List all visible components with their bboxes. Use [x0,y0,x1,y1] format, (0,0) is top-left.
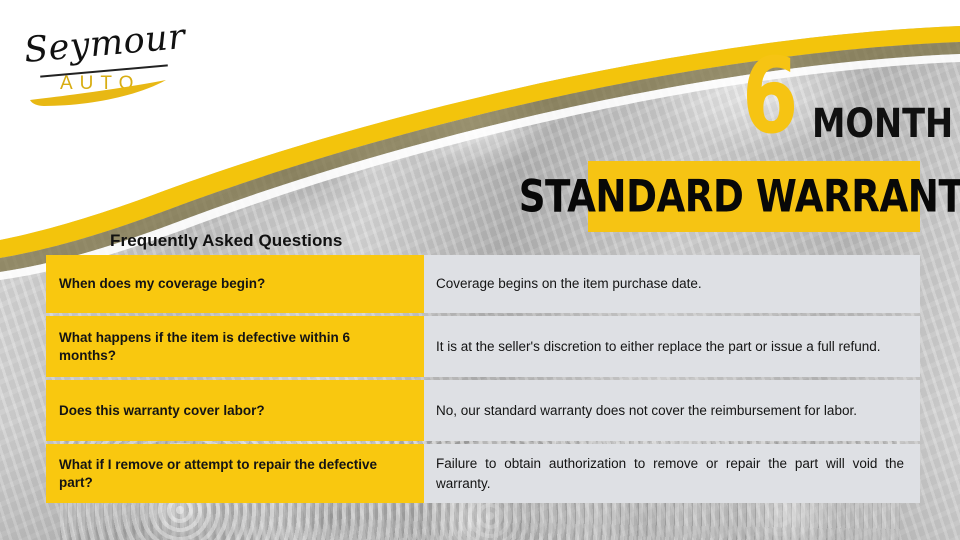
standard-warranty-banner: STANDARD WARRANTY [588,161,920,232]
faq-question-text: When does my coverage begin? [59,275,265,293]
faq-question-text: Does this warranty cover labor? [59,402,265,420]
duration-unit: MONTH [812,104,953,144]
faq-answer-cell: Failure to obtain authorization to remov… [420,444,920,503]
warranty-slide: Seymour AUTO 6 MONTH STANDARD WARRANTY F… [0,0,960,540]
faq-question-cell: When does my coverage begin? [46,255,420,313]
faq-table: When does my coverage begin? Coverage be… [46,255,920,503]
faq-question-cell: Does this warranty cover labor? [46,380,420,441]
faq-question-cell: What happens if the item is defective wi… [46,316,420,377]
faq-answer-cell: No, our standard warranty does not cover… [420,380,920,441]
faq-answer-cell: It is at the seller's discretion to eith… [420,316,920,377]
standard-warranty-label: STANDARD WARRANTY [518,174,960,219]
faq-answer-text: Failure to obtain authorization to remov… [436,454,904,492]
duration-number: 6 [742,44,797,148]
faq-answer-text: Coverage begins on the item purchase dat… [436,274,904,293]
faq-question-cell: What if I remove or attempt to repair th… [46,444,420,503]
faq-answer-cell: Coverage begins on the item purchase dat… [420,255,920,313]
faq-question-text: What happens if the item is defective wi… [59,329,407,365]
table-row: Does this warranty cover labor? No, our … [46,380,920,441]
faq-question-text: What if I remove or attempt to repair th… [59,456,407,492]
table-row: When does my coverage begin? Coverage be… [46,255,920,313]
table-row: What if I remove or attempt to repair th… [46,444,920,503]
seymour-auto-logo: Seymour AUTO [18,18,188,108]
table-row: What happens if the item is defective wi… [46,316,920,377]
faq-heading: Frequently Asked Questions [110,231,342,251]
faq-answer-text: It is at the seller's discretion to eith… [436,337,904,356]
logo-gold-swoosh-icon [18,18,188,108]
faq-answer-text: No, our standard warranty does not cover… [436,401,904,420]
